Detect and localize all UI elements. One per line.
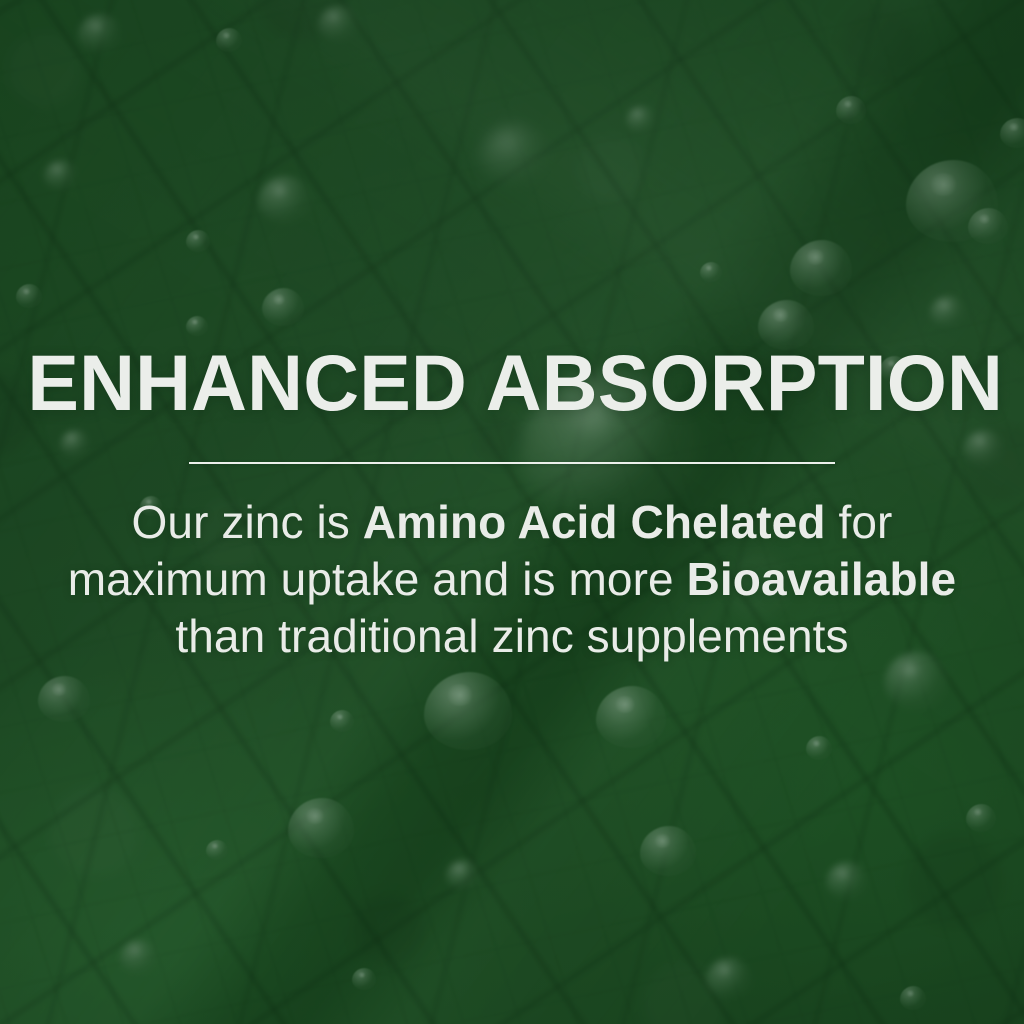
subcopy-line-1-after: for [826, 496, 893, 548]
subcopy-line-2-bold: Bioavailable [687, 553, 957, 605]
headline: ENHANCED ABSORPTION [8, 344, 1017, 422]
subcopy: Our zinc is Amino Acid Chelated for maxi… [68, 494, 956, 665]
subcopy-line-1-before: Our zinc is [132, 496, 363, 548]
promo-banner: ENHANCED ABSORPTION Our zinc is Amino Ac… [0, 0, 1024, 1024]
subcopy-line-2: maximum uptake and is more Bioavailable [68, 551, 956, 608]
content-block: ENHANCED ABSORPTION Our zinc is Amino Ac… [0, 0, 1024, 1024]
divider-rule [189, 462, 835, 464]
subcopy-line-1: Our zinc is Amino Acid Chelated for [68, 494, 956, 551]
subcopy-line-1-bold: Amino Acid Chelated [363, 496, 826, 548]
subcopy-line-3-before: than traditional zinc supplements [175, 610, 848, 662]
subcopy-line-2-before: maximum uptake and is more [68, 553, 687, 605]
subcopy-line-3: than traditional zinc supplements [68, 608, 956, 665]
